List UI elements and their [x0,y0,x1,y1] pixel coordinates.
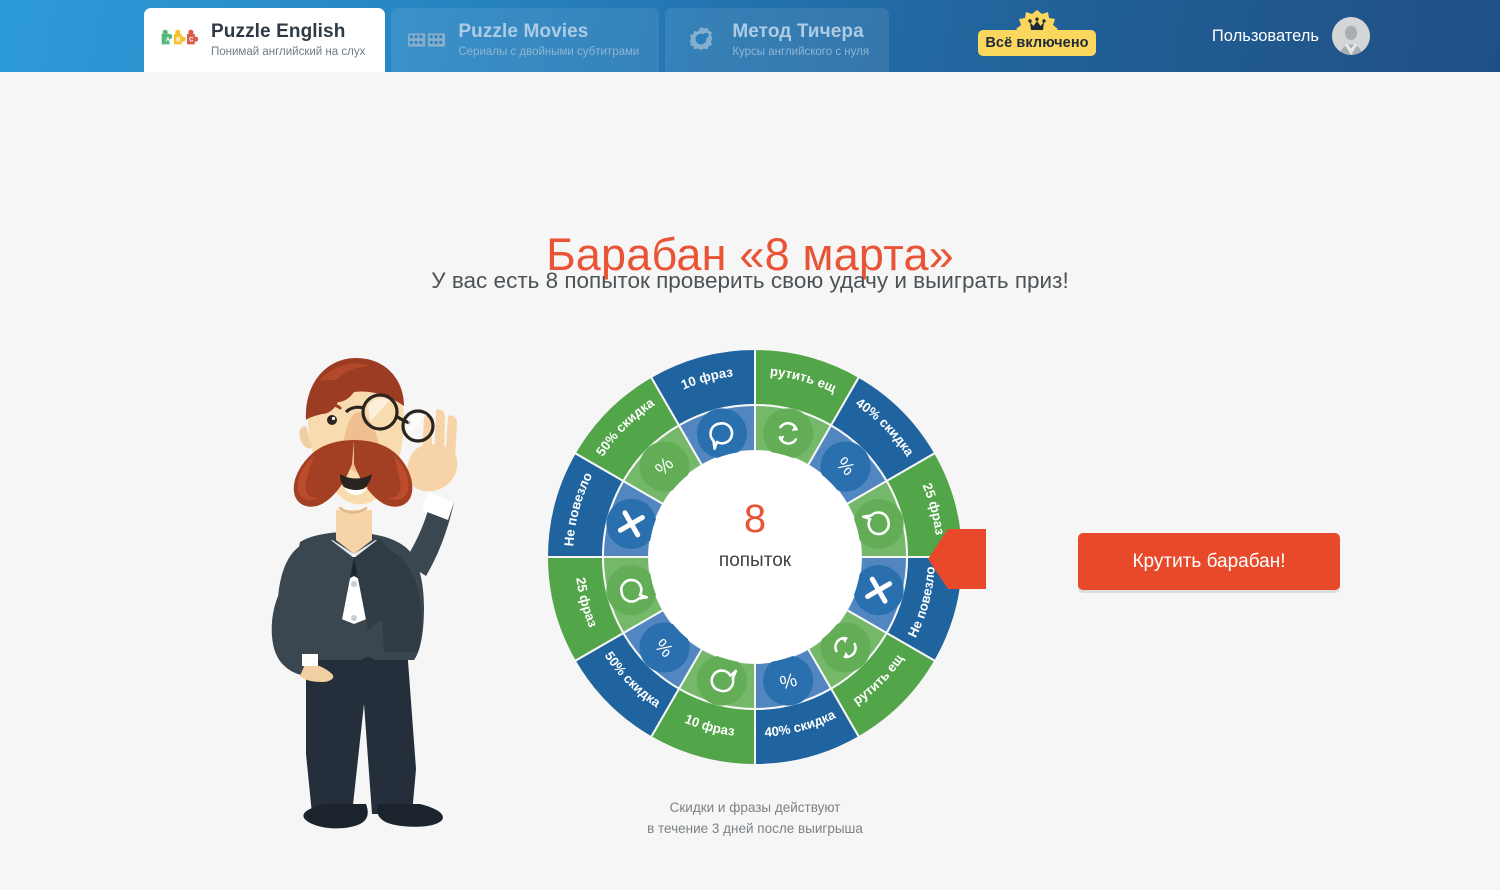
note-line-1: Скидки и фразы действуют [545,798,965,819]
tab-metod-tichera[interactable]: Метод Тичера Курсы английского с нуля [665,8,889,72]
user-avatar-icon[interactable] [1332,17,1370,55]
tab-puzzle-english[interactable]: A B C Puzzle English Понимай английский … [144,8,385,72]
wheel-disclaimer-note: Скидки и фразы действуют в течение 3 дне… [545,798,965,840]
wheel-attempts-label: попыток [545,550,965,572]
site-header: A B C Puzzle English Понимай английский … [0,0,1500,72]
tab-puzzle-movies[interactable]: Puzzle Movies Сериалы с двойными субтитр… [391,8,659,72]
page-body: Барабан «8 марта» У вас есть 8 попыток п… [0,72,1500,890]
tab-title: Puzzle English [211,21,365,43]
tab-subtitle: Понимай английский на слух [211,46,365,59]
tab-title: Метод Тичера [732,21,869,43]
tab-title: Puzzle Movies [458,21,639,43]
svg-text:C: C [189,37,194,44]
puzzle-abc-icon: A B C [160,23,200,57]
wheel-pointer-arrow-icon [928,527,988,592]
tab-label-group: Метод Тичера Курсы английского с нуля [732,21,869,59]
film-strip-icon [407,23,447,57]
wheel-segment-badge [697,408,747,458]
promo-badge-all-included[interactable]: Всё включено [978,10,1096,58]
svg-text:B: B [176,37,181,44]
svg-text:A: A [166,37,171,44]
spin-wheel-button[interactable]: Крутить барабан! [1078,533,1340,590]
tab-label-group: Puzzle Movies Сериалы с двойными субтитр… [458,21,639,59]
user-name-label: Пользователь [1212,27,1319,46]
tab-subtitle: Курсы английского с нуля [732,46,869,59]
gentleman-mascot-illustration [228,334,478,834]
wheel-segment-badge [763,408,813,458]
primary-nav-tabs: A B C Puzzle English Понимай английский … [144,8,889,72]
promo-badge-label: Всё включено [978,30,1096,56]
note-line-2: в течение 3 дней после выигрыша [545,819,965,840]
tab-subtitle: Сериалы с двойными субтитрами [458,46,639,59]
wheel-segment-badge [606,565,656,615]
user-menu[interactable]: Пользователь [1212,0,1370,72]
wheel-segment-badge [697,656,747,706]
page-subtitle: У вас есть 8 попыток проверить свою удач… [0,268,1500,294]
tab-label-group: Puzzle English Понимай английский на слу… [211,21,365,59]
gear-puzzle-icon [681,23,721,57]
wheel-attempts-count: 8 [545,497,965,542]
prize-wheel[interactable]: Крутить еще40% скидка%25 фразНе повезлоК… [545,347,965,767]
